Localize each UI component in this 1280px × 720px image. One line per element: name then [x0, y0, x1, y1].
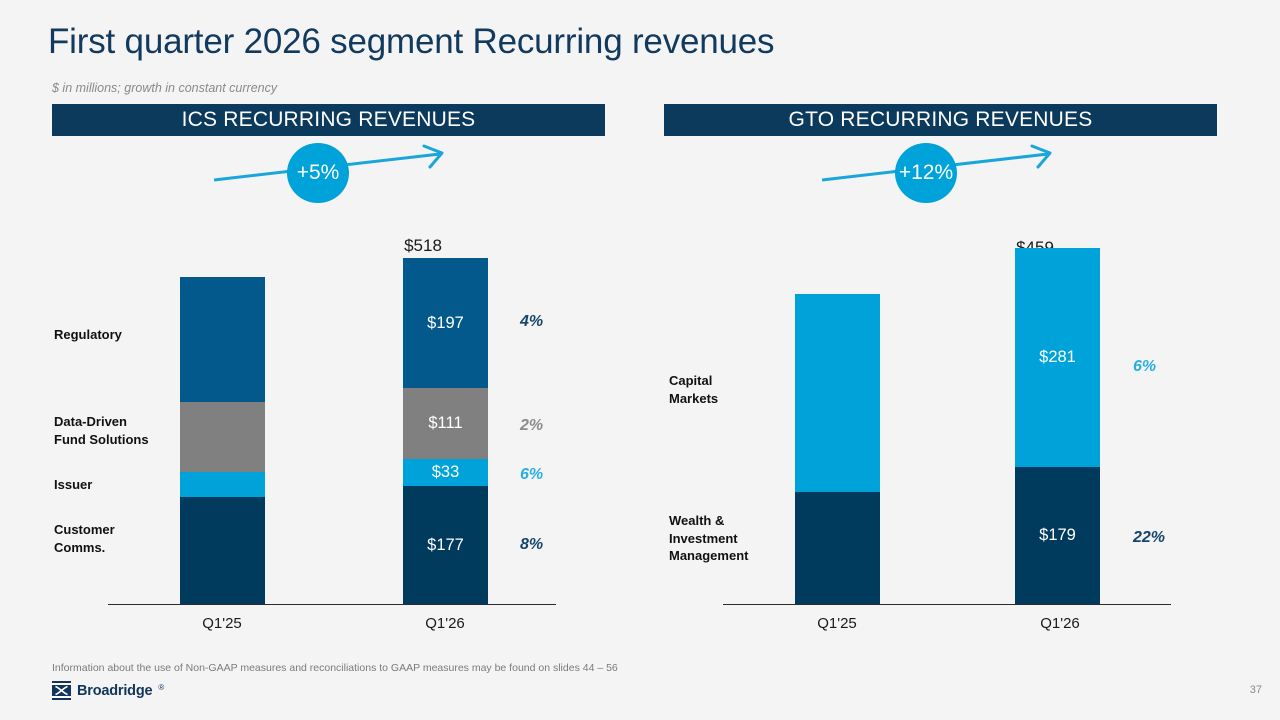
bar-q125-gto — [795, 294, 880, 604]
bar-segment-wealth-investment-management — [795, 492, 880, 604]
growth-label-customer-comms: 8% — [520, 536, 543, 554]
growth-label-capital-markets: 6% — [1133, 358, 1156, 376]
bar-segment-issuer: $33 — [403, 459, 488, 486]
category-label-text-line1: Data-Driven — [54, 413, 194, 431]
category-label-text-line1: Customer — [54, 521, 194, 539]
x-axis-line — [108, 604, 556, 605]
bar-segment-data-driven-fund-solutions: $111 — [403, 388, 488, 459]
bar-q126-gto: $281 $179 — [1015, 248, 1100, 604]
xtick-q126-gto: Q1'26 — [1000, 615, 1120, 632]
bar-segment-regulatory: $197 — [403, 258, 488, 388]
banner-ics: ICS RECURRING REVENUES — [52, 104, 605, 136]
chart-ics: Regulatory Data-Driven Fund Solutions Is… — [40, 236, 600, 636]
growth-badge-ics: +5% — [287, 143, 349, 203]
growth-label-data-driven-fund-solutions: 2% — [520, 417, 543, 435]
category-label-issuer: Issuer — [54, 476, 194, 494]
category-label-regulatory: Regulatory — [54, 326, 194, 344]
bar-segment-capital-markets: $281 — [1015, 248, 1100, 467]
growth-badge-gto: +12% — [895, 143, 957, 203]
growth-label-regulatory: 4% — [520, 313, 543, 331]
page-title: First quarter 2026 segment Recurring rev… — [48, 22, 774, 62]
broadridge-mark-icon — [52, 681, 71, 700]
category-label-text-line2: Fund Solutions — [54, 431, 194, 449]
bar-segment-data-driven-fund-solutions — [180, 402, 265, 472]
subtitle-note: $ in millions; growth in constant curren… — [52, 81, 277, 95]
bar-segment-customer-comms — [180, 497, 265, 604]
footnote-text: Information about the use of Non-GAAP me… — [52, 662, 618, 674]
broadridge-wordmark: Broadridge — [77, 683, 152, 699]
x-axis-line — [723, 604, 1171, 605]
bar-segment-wealth-investment-management: $179 — [1015, 467, 1100, 604]
bar-segment-regulatory — [180, 277, 265, 402]
slide-canvas: First quarter 2026 segment Recurring rev… — [0, 0, 1280, 720]
growth-label-wealth-investment-management: 22% — [1133, 529, 1165, 547]
banner-ics-label: ICS RECURRING REVENUES — [182, 108, 476, 132]
growth-arrow-gto: +12% — [810, 138, 1070, 208]
growth-arrow-ics: +5% — [202, 138, 462, 208]
category-label-customer-comms: Customer Comms. — [54, 521, 194, 556]
xtick-q126-ics: Q1'26 — [385, 615, 505, 632]
category-label-data-driven-fund-solutions: Data-Driven Fund Solutions — [54, 413, 194, 448]
banner-gto: GTO RECURRING REVENUES — [664, 104, 1217, 136]
category-label-text: Issuer — [54, 477, 92, 492]
page-number: 37 — [1250, 684, 1262, 696]
category-label-text: Regulatory — [54, 327, 122, 342]
xtick-q125-gto: Q1'25 — [777, 615, 897, 632]
chart-gto: Capital Markets Wealth & Investment Mana… — [655, 236, 1225, 636]
bar-total-q126-ics: $518 — [363, 236, 483, 256]
xtick-q125-ics: Q1'25 — [162, 615, 282, 632]
broadridge-logo: Broadridge ® — [52, 681, 164, 700]
growth-label-issuer: 6% — [520, 466, 543, 484]
bar-q126-ics: $197 $111 $33 $177 — [403, 258, 488, 604]
bar-q125-ics — [180, 277, 265, 604]
bar-segment-issuer — [180, 472, 265, 497]
banner-gto-label: GTO RECURRING REVENUES — [789, 108, 1093, 132]
registered-trademark-icon: ® — [158, 683, 164, 692]
bar-segment-capital-markets — [795, 294, 880, 492]
category-label-text-line2: Comms. — [54, 539, 194, 557]
bar-segment-customer-comms: $177 — [403, 486, 488, 604]
